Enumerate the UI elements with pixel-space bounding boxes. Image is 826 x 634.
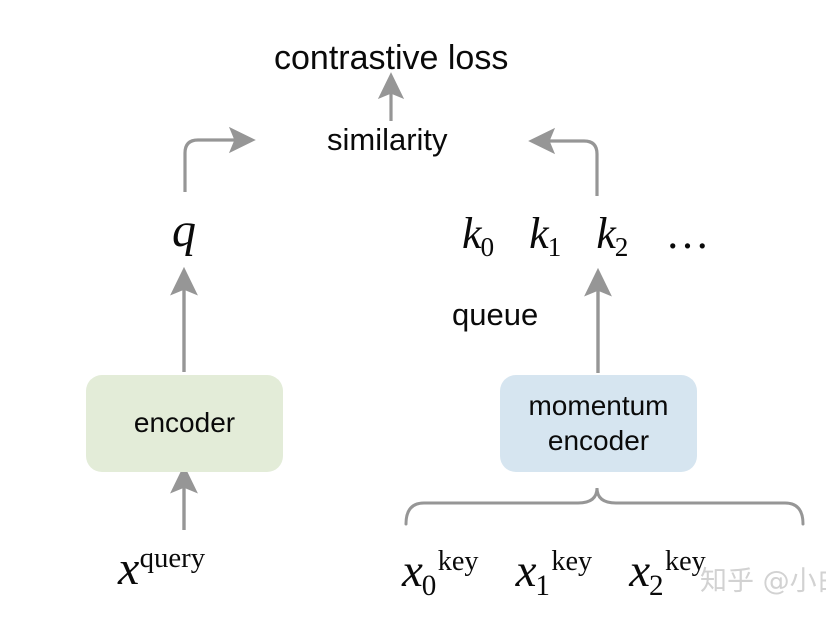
queue-label: queue (452, 299, 538, 330)
key-symbol-0: k0 (462, 209, 506, 258)
momentum-encoder-box[interactable]: momentum encoder (500, 375, 697, 472)
moco-architecture-diagram: contrastive loss similarity q k0 k1 k2 …… (0, 0, 826, 634)
encoder-box[interactable]: encoder (86, 375, 283, 472)
key-input-2: x2key (629, 545, 705, 597)
contrastive-loss-label: contrastive loss (274, 41, 508, 75)
key-ellipsis: … (666, 209, 710, 258)
curly-brace-key-inputs (406, 488, 803, 524)
similarity-label: similarity (327, 124, 448, 155)
key-symbol-2: k2 (596, 209, 640, 258)
key-representations-group: k0 k1 k2 … (462, 212, 710, 256)
momentum-encoder-box-label-line1: momentum (528, 389, 668, 424)
query-input-symbol: xquery (118, 545, 205, 593)
arrow-layer (0, 0, 826, 634)
key-input-1: x1key (516, 545, 604, 597)
momentum-encoder-box-label-line2: encoder (548, 424, 649, 459)
arrow-k-to-similarity (548, 141, 597, 196)
arrow-q-to-similarity (185, 140, 236, 192)
query-representation-symbol: q (172, 207, 196, 255)
key-inputs-group: x0key x1key x2key (402, 548, 705, 595)
encoder-box-label: encoder (134, 406, 235, 441)
key-symbol-1: k1 (529, 209, 573, 258)
watermark: 知乎 @小白 (700, 568, 826, 595)
key-input-0: x0key (402, 545, 490, 597)
query-symbol-glyph: q (172, 204, 196, 257)
